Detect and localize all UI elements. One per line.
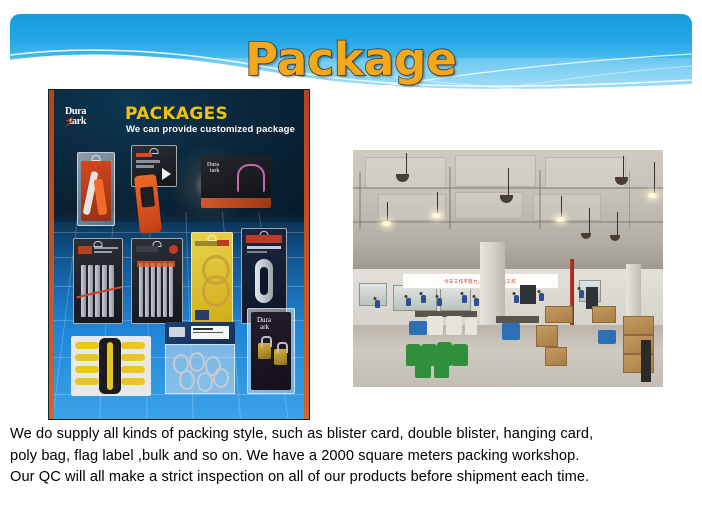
green-packing-bag: [434, 359, 450, 378]
plastic-crate: [502, 323, 521, 340]
product-wrench-set-dark: [73, 238, 123, 324]
packing-bag: [427, 316, 443, 335]
product-blister-cutter: [77, 152, 115, 226]
packaging-poster-image: Dura tark PACKAGES We can provide custom…: [48, 89, 310, 420]
plastic-crate: [598, 330, 617, 344]
product-wrench-set-combination: [131, 238, 183, 324]
pendant-lamp-cord: [387, 202, 388, 222]
product-screwdriver-set: [71, 336, 151, 396]
poster-subheadline: We can provide customized package: [126, 124, 295, 135]
factory-equipment: [520, 285, 536, 304]
durastark-logo: Dura tark: [65, 107, 115, 127]
page-title: Package: [10, 35, 692, 85]
pendant-lamp-cord: [508, 168, 509, 196]
product-rope-hanging-card: [191, 232, 233, 324]
factory-window: [359, 283, 387, 307]
poster-headline: PACKAGES: [125, 104, 228, 124]
plastic-crate: [409, 321, 428, 335]
pendant-lamp-glow: [556, 217, 565, 222]
green-packing-bag: [415, 359, 431, 378]
green-packing-bag: [452, 344, 468, 365]
packing-bag: [465, 318, 477, 335]
pendant-lamp-cord: [623, 156, 624, 178]
poster-right-edge: [304, 90, 309, 419]
factory-workshop-image: 今天工作不努力，明天努力找工作: [353, 150, 663, 387]
cardboard-box: [536, 325, 558, 346]
pendant-lamp-glow: [432, 213, 441, 218]
pendant-lamp-cord: [561, 196, 562, 218]
product-orange-tool: [131, 145, 175, 237]
pendant-lamp-cord: [437, 192, 438, 214]
description-line-1: We do supply all kinds of packing style,…: [10, 424, 682, 446]
product-poly-bag-hooks: [165, 322, 235, 394]
factory-worktable: [496, 316, 539, 323]
pendant-lamp-cord: [406, 153, 407, 175]
packing-bag: [446, 316, 462, 335]
description-line-3: Our QC will all make a strict inspection…: [10, 467, 682, 489]
pendant-lamp-cord: [617, 212, 618, 236]
product-black-box: Duratark: [201, 156, 271, 208]
pendant-lamp-cord: [654, 162, 655, 194]
pendant-lamp-glow: [648, 193, 657, 198]
pendant-lamp-cord: [589, 208, 590, 234]
poster-left-edge: [49, 90, 54, 419]
description-line-2: poly bag, flag label ,bulk and so on. We…: [10, 446, 682, 468]
cardboard-box: [545, 347, 567, 366]
description-text: We do supply all kinds of packing style,…: [10, 424, 682, 489]
hand-truck: [641, 340, 650, 383]
cardboard-box: [592, 306, 617, 323]
cardboard-box: [623, 316, 654, 335]
cardboard-box: [545, 306, 573, 323]
header-banner: Package: [10, 14, 692, 98]
product-padlock-double-blister: Duraark: [247, 308, 295, 394]
